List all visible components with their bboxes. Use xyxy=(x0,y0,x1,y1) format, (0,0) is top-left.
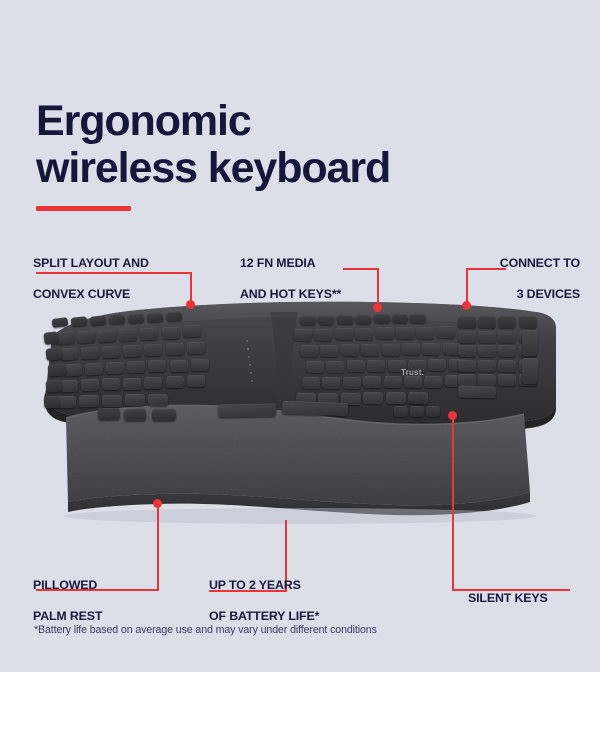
keycap xyxy=(123,377,141,389)
keycap xyxy=(306,361,325,374)
keycap xyxy=(478,359,496,372)
keycap xyxy=(416,326,435,339)
keycap xyxy=(282,401,348,416)
keycap xyxy=(218,403,276,417)
leader-fn-h xyxy=(343,268,379,270)
keycap xyxy=(102,378,120,390)
accent-underline xyxy=(36,206,131,211)
keycap xyxy=(182,325,200,338)
keycap xyxy=(334,328,353,341)
keycap xyxy=(64,363,83,376)
leader-palm-v xyxy=(157,503,159,591)
keycap xyxy=(127,361,145,374)
keycap xyxy=(85,363,104,376)
status-led xyxy=(249,364,251,366)
callout-connect-devices: CONNECT TO 3 DEVICES xyxy=(380,240,580,318)
keycap xyxy=(187,342,205,354)
keycap xyxy=(60,347,79,361)
status-led xyxy=(251,380,253,382)
keycap xyxy=(375,327,394,340)
keycap xyxy=(119,328,138,341)
keycap xyxy=(125,394,145,406)
keycap xyxy=(48,363,67,377)
keycap xyxy=(124,409,146,422)
keycap xyxy=(106,362,125,375)
keycap xyxy=(102,395,122,407)
keycap xyxy=(363,376,382,389)
keycap xyxy=(322,376,341,389)
callout-silent-keys: SILENT KEYS xyxy=(468,575,548,622)
keycap xyxy=(326,360,345,373)
keycap xyxy=(148,393,168,405)
callout-split-layout: SPLIT LAYOUT AND CONVEX CURVE xyxy=(33,240,149,318)
keycap xyxy=(144,377,162,389)
leader-silent-v xyxy=(452,415,454,591)
keycap xyxy=(478,373,496,386)
keycap xyxy=(79,395,99,407)
keycap xyxy=(342,376,361,389)
status-led xyxy=(246,340,248,342)
leader-dot-split xyxy=(186,300,195,309)
keycap xyxy=(478,345,496,358)
keyboard-illustration: Trust. xyxy=(38,296,562,536)
keycap xyxy=(44,396,61,409)
keycap xyxy=(396,327,415,340)
keycap xyxy=(355,314,371,324)
keycap xyxy=(363,392,383,405)
keycap xyxy=(385,392,405,405)
brand-logo: Trust. xyxy=(401,368,424,377)
keycap xyxy=(498,359,516,372)
keycap xyxy=(123,345,142,358)
keycap xyxy=(55,331,74,345)
keycap xyxy=(458,331,476,344)
keycap xyxy=(320,344,339,357)
keycap xyxy=(186,375,204,387)
callout-connect-devices-line1: CONNECT TO xyxy=(380,256,580,272)
keycap xyxy=(381,343,400,356)
keycap xyxy=(60,380,79,393)
leader-fn-v xyxy=(377,268,379,308)
status-led xyxy=(248,356,250,358)
status-led xyxy=(250,372,252,374)
keycap xyxy=(147,313,164,323)
keycap xyxy=(161,326,180,339)
product-feature-graphic: Ergonomic wireless keyboard xyxy=(0,0,600,744)
keycap xyxy=(458,385,496,398)
keycap xyxy=(191,359,209,371)
keycap xyxy=(458,345,476,358)
keycap xyxy=(361,343,380,356)
keycap xyxy=(46,379,63,392)
callout-battery-life-line2: OF BATTERY LIFE* xyxy=(209,609,319,625)
callout-connect-devices-line2: 3 DEVICES xyxy=(380,287,580,303)
lavender-panel: Ergonomic wireless keyboard xyxy=(0,0,600,672)
keycap xyxy=(346,360,365,373)
keycap xyxy=(152,409,176,421)
keycap xyxy=(498,373,516,386)
keycap xyxy=(294,329,313,342)
callout-fn-media-line2: AND HOT KEYS** xyxy=(240,287,341,303)
keycap xyxy=(45,347,62,361)
keycap xyxy=(410,393,424,404)
keycap xyxy=(355,327,374,340)
keycap xyxy=(426,406,440,417)
keycap xyxy=(436,326,455,339)
headline-line-1: Ergonomic xyxy=(36,97,251,145)
callout-palm-rest-line1: PILLOWED xyxy=(33,578,102,594)
headline-line-2: wireless keyboard xyxy=(36,145,556,192)
keycap xyxy=(424,375,443,388)
keycap xyxy=(410,406,424,417)
keycap xyxy=(300,345,319,358)
keycap xyxy=(383,376,402,389)
page-title: Ergonomic wireless keyboard xyxy=(36,98,556,193)
keycap xyxy=(498,345,516,358)
keycap xyxy=(165,376,183,388)
keycap xyxy=(522,330,539,357)
keycap xyxy=(402,343,421,356)
callout-split-layout-line1: SPLIT LAYOUT AND xyxy=(33,256,149,272)
keycap xyxy=(140,327,159,340)
keycap xyxy=(166,312,182,322)
callout-battery-life-line1: UP TO 2 YEARS xyxy=(209,578,319,594)
keycap xyxy=(314,328,333,341)
keycap xyxy=(98,408,120,421)
callout-split-layout-line2: CONVEX CURVE xyxy=(33,287,149,303)
keycap xyxy=(77,330,96,344)
keycap xyxy=(478,331,496,344)
callout-silent-keys-line1: SILENT KEYS xyxy=(468,591,548,607)
keycap xyxy=(302,377,321,390)
keycap xyxy=(394,406,408,417)
keycap xyxy=(522,358,539,385)
keycap xyxy=(81,379,99,392)
keycap xyxy=(428,359,447,372)
keycap xyxy=(367,360,386,373)
keycap xyxy=(498,331,516,344)
keycap xyxy=(422,342,441,355)
keycap xyxy=(458,373,476,386)
keycap xyxy=(165,343,183,355)
keycap xyxy=(458,359,476,372)
keycap xyxy=(98,329,117,342)
keycap xyxy=(169,359,187,371)
keycap xyxy=(43,331,58,345)
keycap xyxy=(148,360,166,372)
keycap xyxy=(340,344,359,357)
keycap xyxy=(144,344,162,357)
keycap xyxy=(81,346,100,359)
status-led xyxy=(247,348,249,350)
footnote: *Battery life based on average use and m… xyxy=(34,624,377,636)
callout-palm-rest-line2: PALM REST xyxy=(33,609,102,625)
callout-fn-media: 12 FN MEDIA AND HOT KEYS** xyxy=(240,240,341,318)
keycap xyxy=(102,345,121,358)
keycap xyxy=(404,375,423,388)
callout-fn-media-line1: 12 FN MEDIA xyxy=(240,256,341,272)
